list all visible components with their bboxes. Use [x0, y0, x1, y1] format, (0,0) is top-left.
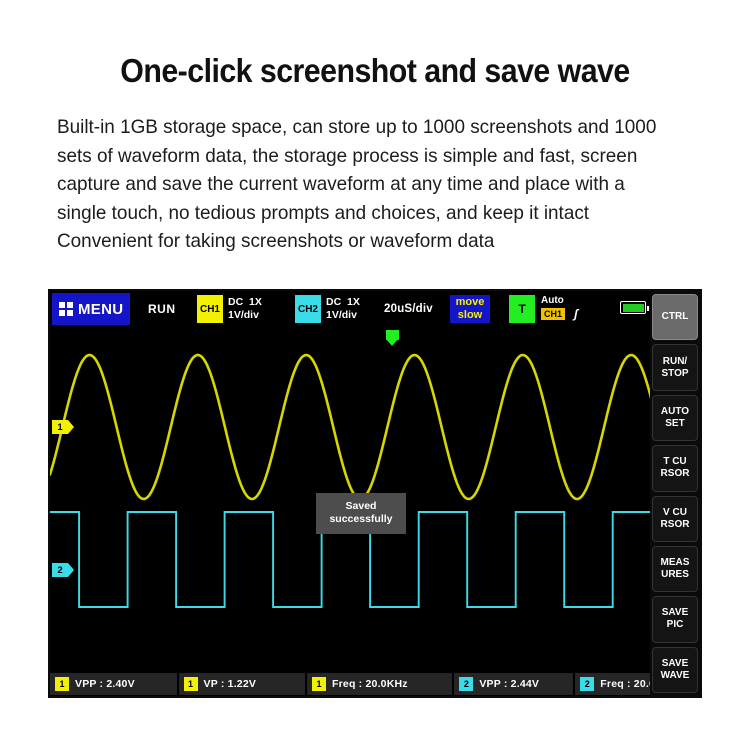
timebase-label[interactable]: 20uS/div [384, 303, 433, 315]
battery-full-icon [620, 301, 646, 314]
measurement-item[interactable]: 1Freq : 20.0KHz [307, 673, 452, 695]
ch1-settings[interactable]: DC 1X1V/div [228, 296, 262, 322]
ch1-ground-marker[interactable]: 1 [52, 420, 68, 434]
oscilloscope-display: MENU RUN CH1 DC 1X1V/div CH2 DC 1X1V/div… [50, 291, 700, 696]
measurement-value: VP : 1.22V [204, 678, 257, 690]
page-title: One-click screenshot and save wave [30, 52, 720, 90]
toast-line1: Saved [346, 500, 377, 512]
promo-line: capture and save the current waveform at… [57, 170, 678, 199]
trigger-mode-label[interactable]: Auto [541, 295, 564, 306]
move-speed-line2: slow [458, 309, 482, 321]
measurement-item[interactable]: 1VP : 1.22V [179, 673, 306, 695]
side-button-ctrl[interactable]: CTRL [652, 294, 698, 340]
measurement-bar: 1VPP : 2.40V1VP : 1.22V1Freq : 20.0KHz2V… [50, 672, 700, 696]
function-button-sidebar: CTRLRUN/ STOPAUTO SETT CU RSORV CU RSORM… [650, 291, 700, 696]
waveform-plot-area[interactable]: 1 2 T Saved successfully [50, 327, 700, 659]
promo-line: Convenient for taking screenshots or wav… [57, 227, 678, 256]
measurement-item[interactable]: 2VPP : 2.44V [454, 673, 573, 695]
ch2-coupling: DC 1X [326, 296, 360, 308]
ch2-badge[interactable]: CH2 [295, 295, 321, 323]
measurement-value: VPP : 2.44V [479, 678, 539, 690]
measurement-value: VPP : 2.40V [75, 678, 135, 690]
side-button-save-pic[interactable]: SAVE PIC [652, 596, 698, 642]
measurement-value: Freq : 20.0KHz [332, 678, 408, 690]
promo-line: single touch, no tedious prompts and cho… [57, 199, 678, 228]
promo-description: Built-in 1GB storage space, can store up… [57, 113, 678, 256]
ch1-sine-trace [50, 355, 700, 499]
measurement-channel-chip: 1 [55, 677, 69, 691]
side-button-t-cu-rsor[interactable]: T CU RSOR [652, 445, 698, 491]
ch2-scale: 1V/div [326, 309, 357, 321]
promo-line: Built-in 1GB storage space, can store up… [57, 113, 678, 142]
measurement-channel-chip: 1 [184, 677, 198, 691]
promo-line: sets of waveform data, the storage proce… [57, 142, 678, 171]
toast-line2: successfully [329, 513, 392, 525]
grid-4-squares-icon [59, 302, 73, 316]
oscilloscope-screen: MENU RUN CH1 DC 1X1V/div CH2 DC 1X1V/div… [48, 289, 702, 698]
trigger-indicator[interactable]: T [509, 295, 535, 323]
trigger-source-badge[interactable]: CH1 [541, 308, 565, 320]
ch1-scale: 1V/div [228, 309, 259, 321]
move-speed-badge[interactable]: moveslow [450, 295, 490, 323]
ch2-ground-marker[interactable]: 2 [52, 563, 68, 577]
ch2-settings[interactable]: DC 1X1V/div [326, 296, 360, 322]
ch1-badge[interactable]: CH1 [197, 295, 223, 323]
measurement-channel-chip: 2 [580, 677, 594, 691]
ch1-coupling: DC 1X [228, 296, 262, 308]
side-button-save-wave[interactable]: SAVE WAVE [652, 647, 698, 693]
side-button-v-cu-rsor[interactable]: V CU RSOR [652, 496, 698, 542]
save-toast: Saved successfully [316, 493, 406, 534]
side-button-run-stop[interactable]: RUN/ STOP [652, 344, 698, 390]
measurement-channel-chip: 1 [312, 677, 326, 691]
measurement-item[interactable]: 1VPP : 2.40V [50, 673, 177, 695]
measurement-channel-chip: 2 [459, 677, 473, 691]
menu-button[interactable]: MENU [52, 293, 130, 325]
side-button-auto-set[interactable]: AUTO SET [652, 395, 698, 441]
side-button-meas-ures[interactable]: MEAS URES [652, 546, 698, 592]
move-speed-line1: move [456, 296, 485, 308]
status-bar: MENU RUN CH1 DC 1X1V/div CH2 DC 1X1V/div… [50, 291, 700, 327]
menu-button-label: MENU [78, 301, 123, 318]
run-state-label: RUN [148, 302, 176, 316]
trigger-edge-icon[interactable]: ʃ [574, 307, 578, 321]
